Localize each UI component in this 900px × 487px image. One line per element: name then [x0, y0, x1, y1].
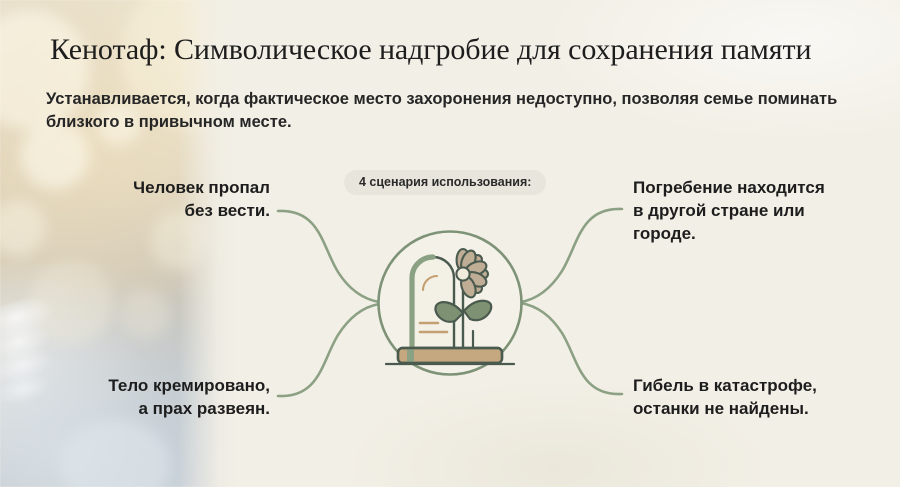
flower-center — [456, 267, 469, 280]
gravestone-with-flower-icon — [0, 0, 900, 487]
slide-canvas: Кенотаф: Символическое надгробие для сох… — [0, 0, 900, 487]
base-green-accent — [407, 348, 414, 363]
